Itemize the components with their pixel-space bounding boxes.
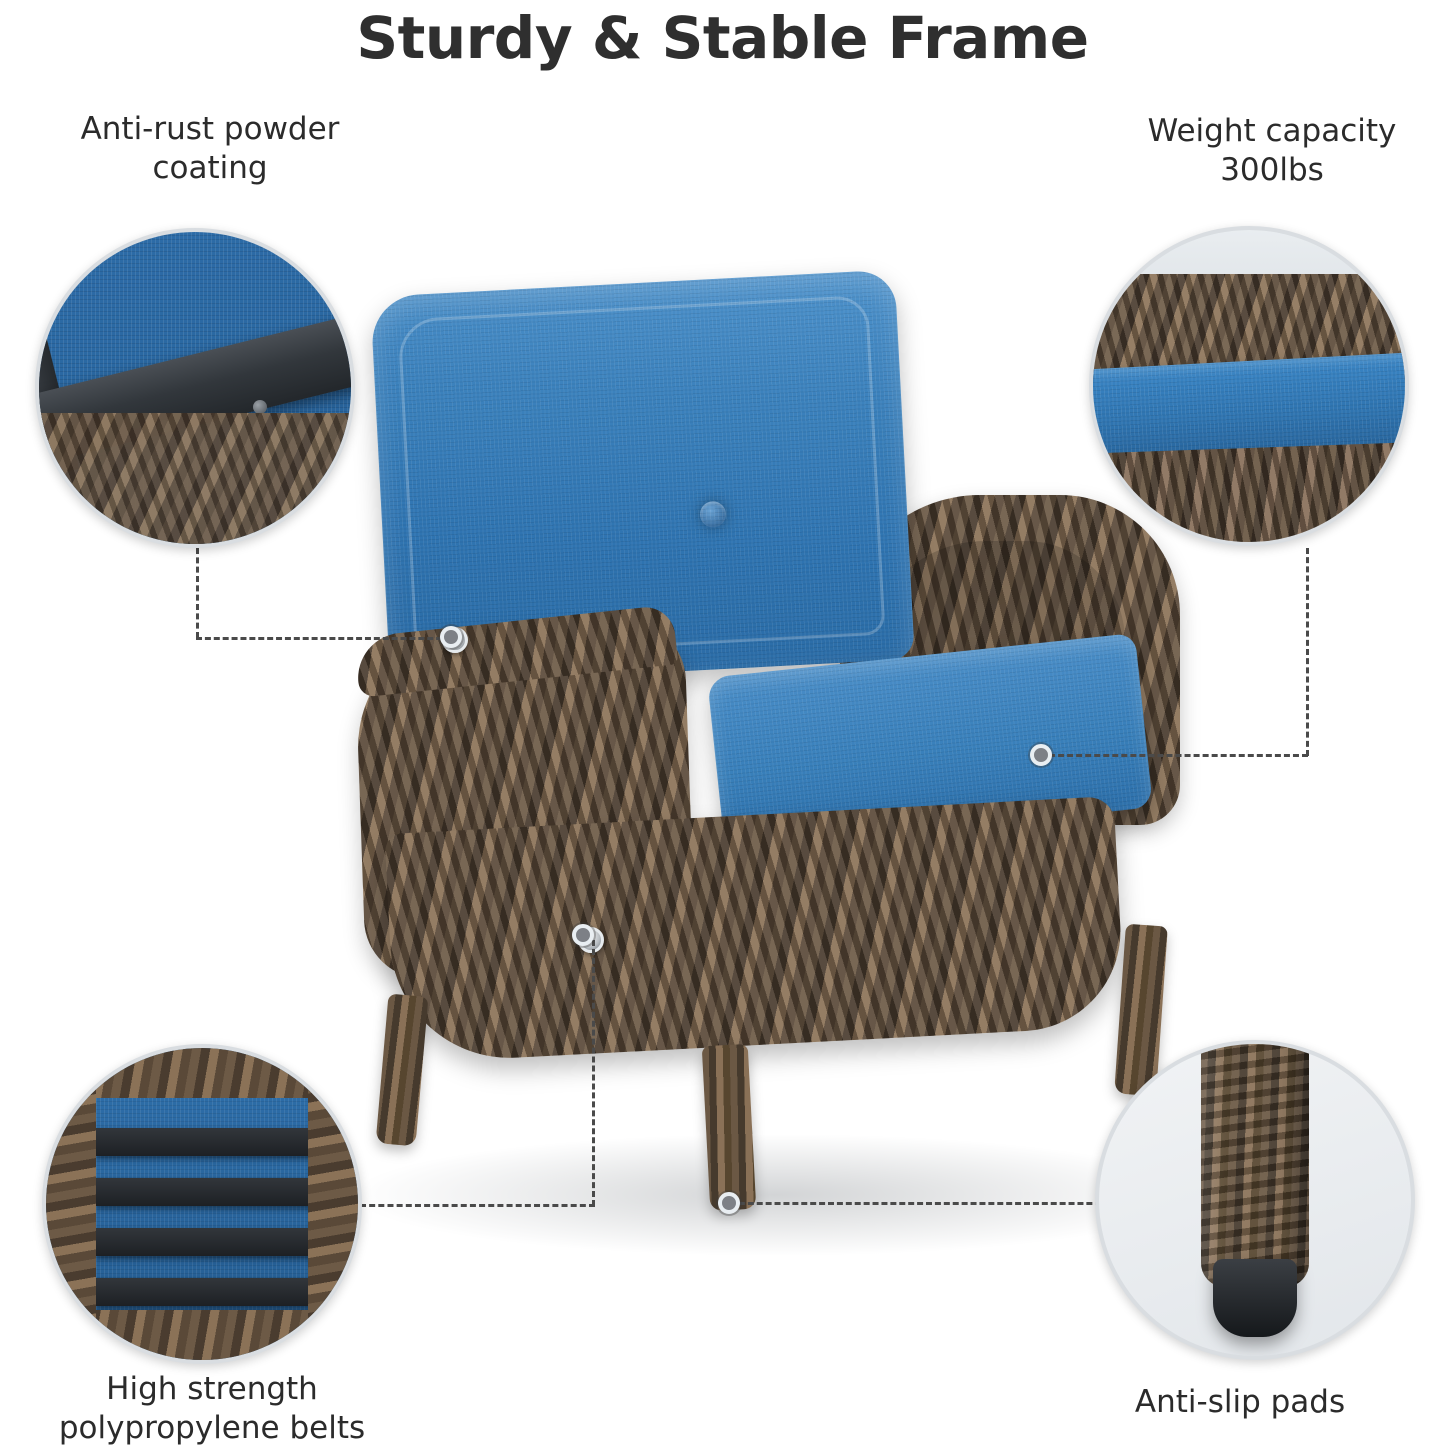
connector-anti-slip-horizontal <box>730 1202 1128 1205</box>
detail-bubble-weight-capacity <box>1089 226 1409 546</box>
product-feature-infographic: Sturdy & Stable Frame <box>0 0 1445 1449</box>
chair-front-apron <box>384 796 1125 1064</box>
marker-anti-slip <box>718 1192 740 1214</box>
floor-shadow <box>360 1135 1190 1255</box>
marker-weight-capacity <box>1030 744 1052 766</box>
marker-belts <box>572 924 594 946</box>
callout-label-anti-slip: Anti-slip pads <box>1075 1383 1405 1422</box>
connector-anti-rust-vertical <box>196 548 199 638</box>
back-cushion-piping <box>397 295 885 659</box>
callout-label-belts-line2: polypropylene belts <box>59 1410 365 1446</box>
detail-bubble-polypropylene-belts <box>42 1044 362 1364</box>
callout-label-weight-capacity-line2: 300lbs <box>1220 152 1324 188</box>
chair-leg-front-left <box>376 994 429 1147</box>
callout-label-weight-capacity-line1: Weight capacity <box>1148 113 1397 149</box>
detail-bubble-anti-rust <box>35 228 355 548</box>
detail-bubble-anti-slip-pads <box>1095 1040 1415 1360</box>
callout-label-weight-capacity: Weight capacity 300lbs <box>1107 112 1437 190</box>
page-title: Sturdy & Stable Frame <box>0 4 1445 72</box>
callout-label-anti-rust-line2: coating <box>152 150 267 186</box>
cushion-tuft-button <box>699 501 726 528</box>
chair-leg-front-right <box>702 1044 757 1211</box>
callout-label-anti-rust: Anti-rust powder coating <box>30 110 390 188</box>
marker-anti-rust <box>440 626 462 648</box>
callout-label-belts: High strength polypropylene belts <box>12 1370 412 1448</box>
connector-weight-horizontal <box>1040 754 1308 757</box>
connector-anti-rust-horizontal <box>196 637 451 640</box>
connector-belts-vertical <box>592 940 595 1206</box>
connector-belts-horizontal <box>360 1204 595 1207</box>
connector-weight-vertical <box>1306 548 1309 756</box>
callout-label-belts-line1: High strength <box>106 1371 318 1407</box>
callout-label-anti-rust-line1: Anti-rust powder <box>81 111 340 147</box>
